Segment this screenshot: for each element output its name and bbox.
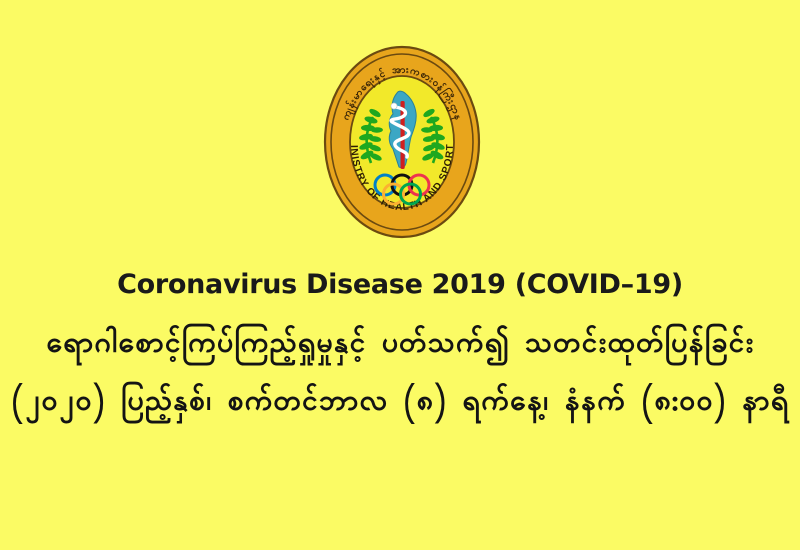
- announcement-page: ကျန်းမာရေးနှင့် အားကစားဝန်ကြီးဌာန MINIST…: [0, 0, 800, 550]
- headline-myanmar-datetime: (၂၀၂၀) ပြည့်နှစ်၊ စက်တင်ဘာလ (၈) ရက်နေ့၊ …: [0, 380, 800, 427]
- announcement-text-block: Coronavirus Disease 2019 (COVID–19) ရောဂ…: [0, 268, 800, 427]
- headline-english: Coronavirus Disease 2019 (COVID–19): [0, 268, 800, 302]
- ministry-emblem: ကျန်းမာရေးနှင့် အားကစားဝန်ကြီးဌာန MINIST…: [323, 45, 481, 239]
- headline-myanmar-subject: ရောဂါစောင့်ကြပ်ကြည့်ရှုမှုနှင့် ပတ်သက်၍ …: [0, 322, 800, 369]
